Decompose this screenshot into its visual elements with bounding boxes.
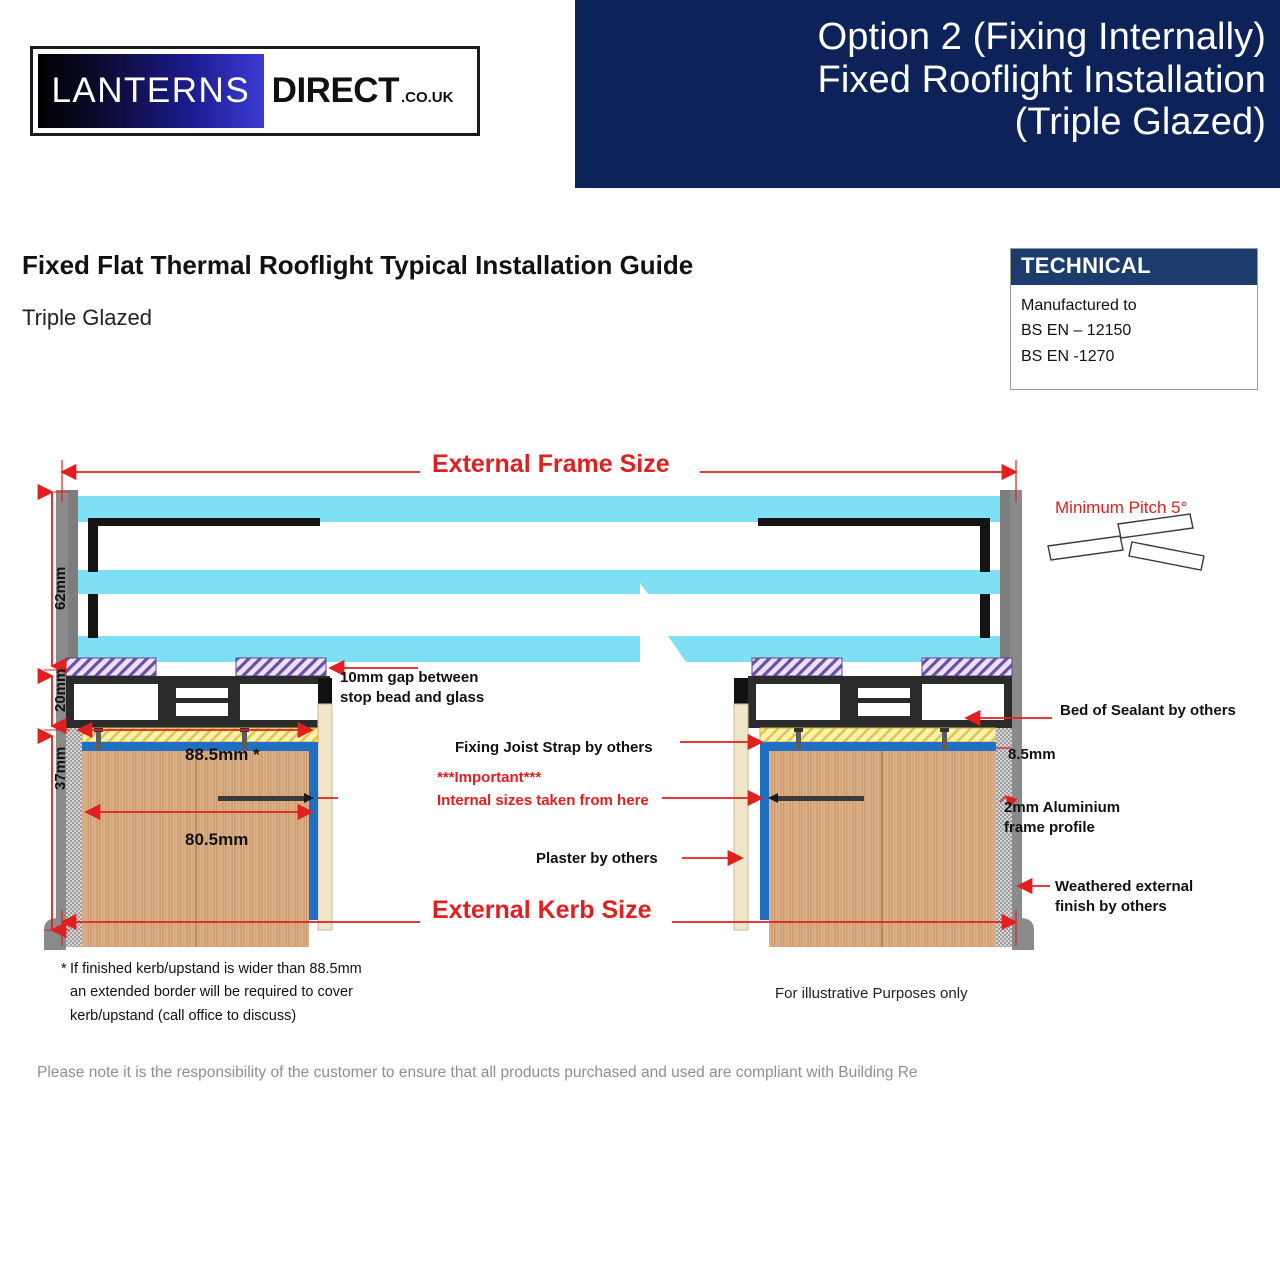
important-callout: ***Important***	[437, 768, 541, 788]
header-title-line3: (Triple Glazed)	[606, 101, 1266, 144]
stop-bead-gap-line1: 10mm gap between	[340, 668, 484, 688]
header-title: Option 2 (Fixing Internally) Fixed Roofl…	[606, 16, 1266, 144]
logo-lanterns-text: LANTERNS	[51, 71, 250, 111]
technical-line-2: BS EN -1270	[1021, 344, 1247, 369]
dimension-20mm: 20mm	[52, 669, 69, 712]
plaster-callout: Plaster by others	[536, 849, 658, 869]
technical-box-heading: TECHNICAL	[1011, 249, 1257, 285]
page-subtitle: Triple Glazed	[22, 305, 152, 331]
internal-sizes-callout: Internal sizes taken from here	[437, 791, 649, 811]
technical-line-0: Manufactured to	[1021, 293, 1247, 318]
dimension-62mm: 62mm	[52, 567, 69, 610]
external-kerb-size-label: External Kerb Size	[432, 894, 652, 928]
logo-direct-text: DIRECT	[272, 71, 399, 111]
kerb-width-footnote: * If finished kerb/upstand is wider than…	[70, 958, 362, 1028]
right-section-assembly	[600, 490, 1034, 950]
weathered-finish-line1: Weathered external	[1055, 877, 1193, 897]
technical-line-1: BS EN – 12150	[1021, 318, 1247, 343]
dimension-37mm: 37mm	[52, 747, 69, 790]
stop-bead-gap-line2: stop bead and glass	[340, 688, 484, 708]
aluminium-profile-callout: 2mm Aluminium frame profile	[1004, 798, 1120, 839]
header-title-line1: Option 2 (Fixing Internally)	[606, 16, 1266, 59]
fixing-joist-strap-callout: Fixing Joist Strap by others	[455, 738, 653, 758]
footnote-line2: an extended border will be required to c…	[70, 981, 362, 1004]
logo-wordmark-right: DIRECT .CO.UK	[264, 54, 472, 128]
footnote-marker: *	[61, 958, 67, 981]
cross-section-diagram	[0, 430, 1280, 1030]
footnote-line3: kerb/upstand (call office to discuss)	[70, 1005, 362, 1028]
footnote-line1: If finished kerb/upstand is wider than 8…	[70, 958, 362, 981]
aluminium-frame-profile	[66, 676, 330, 728]
stop-bead-gap-callout: 10mm gap between stop bead and glass	[340, 668, 484, 709]
minimum-pitch-label: Minimum Pitch 5°	[1055, 497, 1187, 520]
logo-wordmark-left: LANTERNS	[38, 54, 264, 128]
building-regs-disclaimer: Please note it is the responsibility of …	[37, 1064, 918, 1082]
minimum-pitch-icon	[1048, 514, 1204, 570]
logo-tld-text: .CO.UK	[401, 89, 454, 106]
aluminium-profile-line2: frame profile	[1004, 818, 1120, 838]
dimension-8-5mm: 8.5mm	[1008, 745, 1056, 765]
technical-box-body: Manufactured to BS EN – 12150 BS EN -127…	[1011, 285, 1257, 377]
weathered-finish-callout: Weathered external finish by others	[1055, 877, 1193, 918]
weathered-finish-line2: finish by others	[1055, 897, 1193, 917]
illustrative-note: For illustrative Purposes only	[775, 985, 968, 1002]
page-title: Fixed Flat Thermal Rooflight Typical Ins…	[22, 250, 693, 281]
brand-logo: LANTERNS DIRECT .CO.UK	[30, 46, 480, 136]
bed-of-sealant-callout: Bed of Sealant by others	[1060, 701, 1236, 721]
header-title-line2: Fixed Rooflight Installation	[606, 59, 1266, 102]
dimension-80-5mm: 80.5mm	[185, 829, 248, 852]
header-banner: Option 2 (Fixing Internally) Fixed Roofl…	[575, 0, 1280, 188]
dimension-88-5mm: 88.5mm *	[185, 744, 260, 767]
installation-guide-page: Option 2 (Fixing Internally) Fixed Roofl…	[0, 0, 1280, 1280]
technical-box: TECHNICAL Manufactured to BS EN – 12150 …	[1010, 248, 1258, 390]
aluminium-frame-profile-right	[748, 676, 1012, 728]
aluminium-profile-line1: 2mm Aluminium	[1004, 798, 1120, 818]
left-section-assembly	[44, 490, 640, 950]
external-frame-size-label: External Frame Size	[432, 448, 670, 482]
